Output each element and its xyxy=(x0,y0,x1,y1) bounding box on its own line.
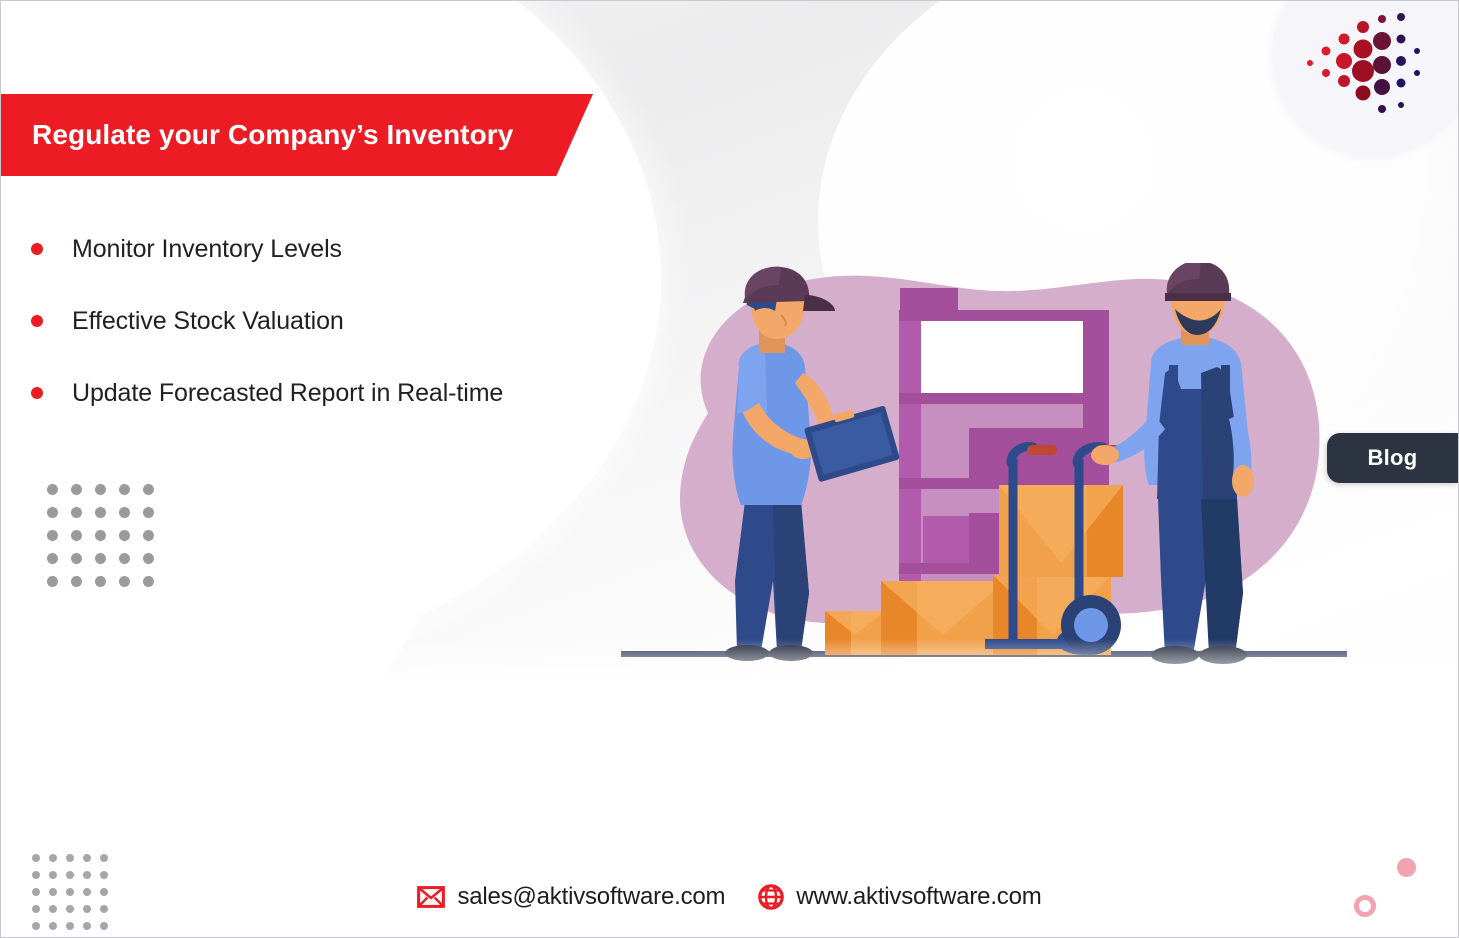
footer-website-item[interactable]: www.aktivsoftware.com xyxy=(758,883,1041,911)
slide-canvas: Regulate your Company’s Inventory Monito… xyxy=(0,0,1459,938)
bullet-dot-icon xyxy=(31,243,43,255)
website-url: www.aktivsoftware.com xyxy=(796,883,1041,911)
decorative-circle xyxy=(1397,858,1416,877)
bullet-dot-icon xyxy=(31,315,43,327)
email-address: sales@aktivsoftware.com xyxy=(457,883,725,911)
warehouse-inventory-illustration xyxy=(613,263,1353,668)
headline-banner: Regulate your Company’s Inventory xyxy=(1,94,593,176)
bullet-dot-icon xyxy=(31,387,43,399)
bullet-label: Monitor Inventory Levels xyxy=(72,235,342,264)
dot-grid-decoration xyxy=(47,484,167,599)
blog-tab-label: Blog xyxy=(1367,445,1417,471)
decorative-ring xyxy=(1354,895,1376,917)
list-item: Effective Stock Valuation xyxy=(25,285,645,357)
dotted-arrow-icon xyxy=(1306,11,1446,131)
bullet-label: Update Forecasted Report in Real-time xyxy=(72,379,503,408)
feature-bullet-list: Monitor Inventory Levels Effective Stock… xyxy=(25,213,645,429)
envelope-icon xyxy=(417,886,445,908)
bullet-label: Effective Stock Valuation xyxy=(72,307,344,336)
footer-contact-bar: sales@aktivsoftware.com www.aktivsoftwar… xyxy=(1,883,1458,911)
list-item: Update Forecasted Report in Real-time xyxy=(25,357,645,429)
list-item: Monitor Inventory Levels xyxy=(25,213,645,285)
bottom-fade xyxy=(1,639,1458,685)
globe-icon xyxy=(758,884,784,910)
footer-email-item[interactable]: sales@aktivsoftware.com xyxy=(417,883,725,911)
blog-tab[interactable]: Blog xyxy=(1327,433,1458,483)
page-title: Regulate your Company’s Inventory xyxy=(1,119,513,151)
